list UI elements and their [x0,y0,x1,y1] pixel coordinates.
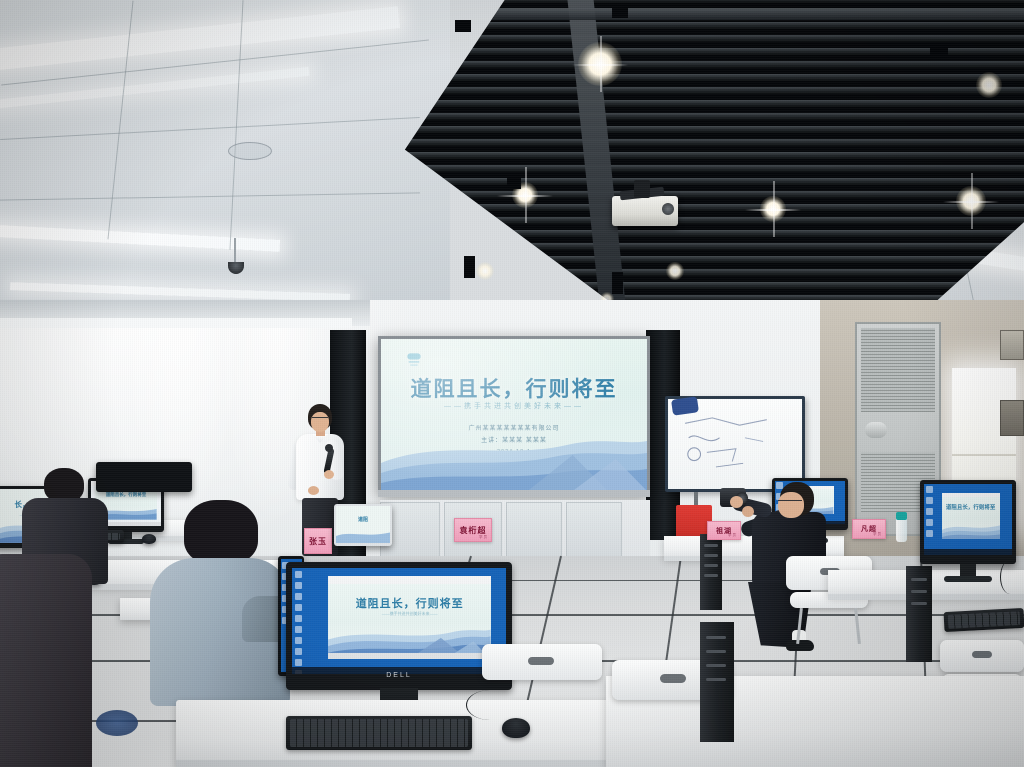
monitor-center-left[interactable]: 道阻 [334,504,392,546]
desktop-icons[interactable] [926,486,938,541]
training-room-photo: /* slats are generated below */ [0,0,1024,767]
ceiling-slat [405,35,1024,42]
cabinet-handle[interactable] [865,422,887,438]
chair-handle-slot [972,651,992,658]
ceiling-slat [405,269,1024,276]
keyboard-keys [290,719,468,747]
projector-mount [634,180,650,198]
screen-glare [381,339,647,491]
mini-slide-title: 道阻且长，行则将至 [328,595,491,611]
presentation-window: 道阻且长，行则将至 ——携手共进共创美好未来—— [328,576,491,659]
chair-leg [854,608,861,644]
ceiling-slat [405,113,1024,120]
placard-note: 学员 [873,532,882,537]
monitor-front-center[interactable]: 道阻且长，行则将至 ——携手共进共创美好未来—— DELL [286,562,512,690]
window-mullion [952,454,1016,456]
keyboard-keys [948,611,1021,629]
ceiling-spotlight [666,262,684,280]
placard-note: 学员 [479,535,488,540]
keyboard-right[interactable] [944,608,1024,632]
ceiling-spotlight [956,186,986,216]
projection-screen-frame: 道阻且长，行则将至 ——携手共进共创美好未来—— 广州某某某某某某某有限公司 主… [378,336,650,494]
ceiling-slat [405,152,1024,159]
presenter-left-hand [308,486,319,495]
placard-name: 张玉 [309,536,327,547]
camera-stem [234,238,236,262]
person-attendee-front [150,500,290,700]
ceiling-slat [405,61,1024,68]
desk-pedestal [906,566,932,662]
ceiling-spotlight [476,262,494,280]
keyboard-front[interactable] [286,716,472,750]
mini-slide-title: 道阻且长，行则将至 [942,503,1000,511]
ceiling-slat [405,178,1024,185]
person-attendee-left-2 [0,554,92,767]
monitor-base [944,576,992,582]
pedestal-vent [706,636,726,639]
photographer-face [778,492,804,518]
mouse-front[interactable] [502,718,530,738]
name-placard: 张玉 [304,528,332,554]
pedestal-vent [704,574,718,577]
ceiling-fixture [612,8,628,18]
ceiling-slat [405,139,1024,146]
mini-slide-wave [336,529,390,543]
attendee-head [184,500,258,564]
name-placard: 凡超 学员 [852,519,886,539]
ceiling-projector [612,196,678,226]
chair-leg [796,608,803,644]
pedestal-vent [704,544,718,547]
ceiling-fixture [930,48,948,61]
ceiling-fixture [612,272,623,294]
ceiling-slat [405,74,1024,81]
whiteboard-scribble [676,407,794,480]
wall-soffit-inner [0,318,352,328]
bottle-cap [896,512,907,520]
ceiling-fixture [507,178,521,189]
ceiling-slat [405,217,1024,224]
ceiling-slat [405,126,1024,133]
monitor-screen: 道阻 [336,506,390,543]
window-titlebar [942,493,1000,498]
monitor-left-edge-back[interactable] [96,462,192,492]
desk-pedestal [700,534,722,610]
projector-lens-icon [662,203,674,215]
desktop-icons[interactable] [295,571,319,674]
window-titlebar [328,576,491,583]
wall-panel-box [1000,330,1024,360]
mini-slide-subtitle: ——携手共进共创美好未来—— [328,611,491,617]
chair-handle-slot [528,657,554,665]
monitor-right-front[interactable]: 道阻且长，行则将至 [920,480,1016,564]
water-bottle[interactable] [896,512,907,542]
chair-handle-slot [660,674,686,683]
monitor-cable [1000,560,1020,594]
mini-slide-wave [942,520,1000,540]
presenter-right-hand [324,470,334,479]
ceiling-fixture [464,256,475,278]
attendee-head [44,468,84,502]
ceiling-spotlight [578,42,622,86]
ceiling-fixture [455,20,471,32]
presenter-face [311,412,329,432]
pedestal-vent [704,564,718,567]
air-diffuser-icon [228,142,272,160]
monitor-screen: 道阻且长，行则将至 [924,484,1012,555]
projection-screen: 道阻且长，行则将至 ——携手共进共创美好未来—— 广州某某某某某某某有限公司 主… [381,339,647,491]
placard-name: 袁桁超 [460,525,487,536]
presentation-window: 道阻且长，行则将至 [942,493,1000,540]
ceiling-slat [405,230,1024,237]
ceiling-slat [405,204,1024,211]
pedestal-vent [706,650,726,653]
pedestal-vent [911,602,927,605]
wall-panel-box [1000,400,1024,436]
name-placard: 袁桁超 学员 [454,518,492,542]
ceiling-slat [405,256,1024,263]
glasses-icon [312,417,328,421]
cabinet-vent-mesh [861,328,935,412]
ceiling-slat [405,243,1024,250]
mini-slide-title: 道阻 [336,516,390,523]
monitor-brand-label: DELL [382,672,416,681]
photographer-hand [742,506,754,517]
taskbar[interactable] [924,549,1012,555]
ceiling-spotlight [760,196,786,222]
ceiling-slat [405,87,1024,94]
pedestal-vent [911,590,927,593]
ceiling-slat [405,191,1024,198]
monitor-screen: 道阻且长，行则将至 ——携手共进共创美好未来—— [292,568,506,674]
screen-bottom-bar [378,490,650,497]
ceiling-slat [405,165,1024,172]
ceiling-slat [405,282,1024,289]
chair-logo-badge [96,710,138,736]
ceiling: /* slats are generated below */ [0,0,1024,330]
chair-front-mid[interactable] [482,644,602,700]
ceiling-slat [405,100,1024,107]
ceiling-beam [405,8,1024,20]
pedestal-vent [704,554,718,557]
window-statusbar[interactable] [328,653,491,660]
microphone-head [325,444,333,452]
ceiling-spotlight [976,72,1002,98]
photographer-hand [730,496,743,508]
monitor-bezel [96,462,192,492]
attendee-torso [0,554,92,767]
desk-pedestal-front [700,622,734,742]
pedestal-vent [706,678,726,681]
pedestal-vent [911,578,927,581]
glasses-icon [778,500,802,505]
pedestal-vent [706,664,726,667]
ceiling-slat [405,22,1024,29]
